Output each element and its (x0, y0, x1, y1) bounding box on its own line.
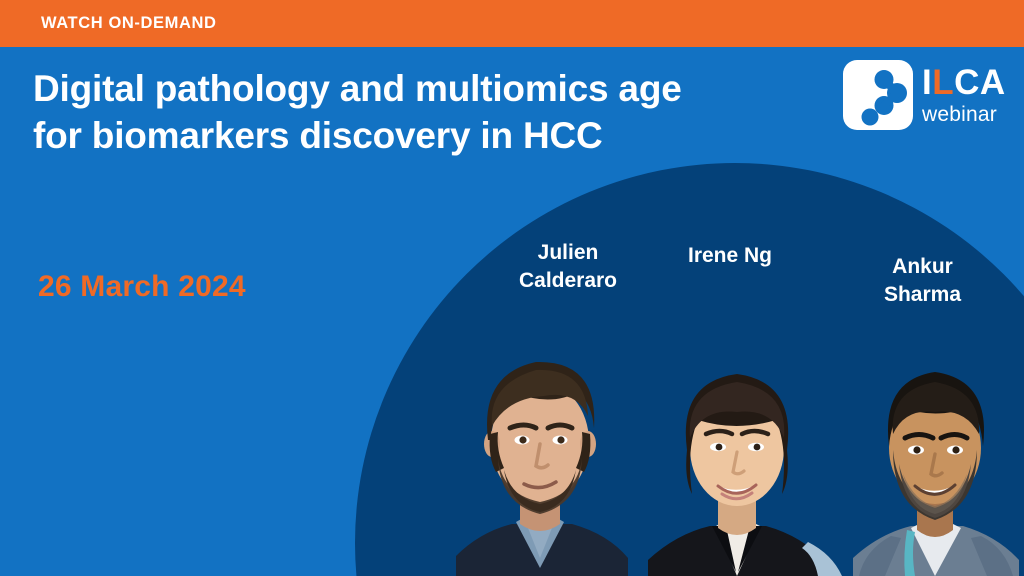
title-line-1: Digital pathology and multiomics age (33, 66, 823, 113)
webinar-promo-slide: WATCH ON-DEMAND Digital pathology and mu… (0, 0, 1024, 576)
logo-ilca-text: ILCA (922, 65, 1006, 100)
event-date: 26 March 2024 (38, 270, 246, 304)
banner-label: WATCH ON-DEMAND (0, 14, 217, 33)
page-title: Digital pathology and multiomics age for… (33, 66, 823, 160)
speaker-portrait-ankur-sharma (845, 338, 1024, 576)
logo-letter-i: I (922, 65, 932, 100)
speaker-portrait-irene-ng (632, 328, 842, 576)
speaker-name-0: Julien Calderaro (498, 239, 638, 296)
ilca-webinar-logo: ILCA webinar (843, 60, 1006, 130)
logo-letter-l: L (932, 65, 954, 100)
speaker-name-1: Irene Ng (665, 242, 795, 270)
logo-letters-ca: CA (954, 65, 1006, 100)
speaker-portrait-julien-calderaro (432, 318, 647, 576)
speaker-name-2: Ankur Sharma (855, 253, 990, 310)
ilca-molecule-icon (843, 60, 913, 130)
watch-on-demand-banner: WATCH ON-DEMAND (0, 0, 1024, 47)
logo-wordmark: ILCA webinar (922, 65, 1006, 125)
title-line-2: for biomarkers discovery in HCC (33, 113, 823, 160)
logo-subtitle: webinar (922, 104, 1006, 125)
